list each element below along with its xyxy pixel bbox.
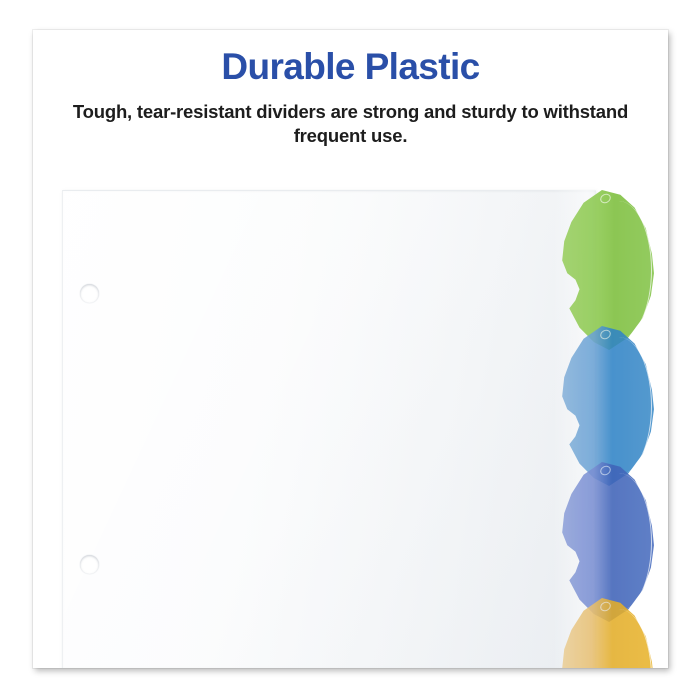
- tab-tip-mark-light-blue: [598, 328, 612, 341]
- subtitle: Tough, tear-resistant dividers are stron…: [66, 100, 636, 149]
- divider-sheet: [62, 190, 596, 668]
- tab-tip-mark-green: [598, 192, 612, 205]
- divider-tab-stack: [553, 190, 668, 668]
- tab-gloss-arc-light-blue: [606, 337, 652, 475]
- sheet-sheen-overlay: [63, 191, 596, 668]
- punch-hole-top: [80, 284, 99, 303]
- subtitle-line-1: Tough, tear-resistant dividers are stron…: [73, 101, 517, 122]
- tab-tip-mark-gold: [598, 600, 612, 613]
- tab-green: [553, 190, 655, 350]
- tab-tip-mark-dark-blue: [598, 464, 612, 477]
- tab-dark-blue: [553, 462, 655, 622]
- tab-gloss-arc-gold: [606, 609, 652, 668]
- tab-light-blue: [553, 326, 655, 486]
- page-title: Durable Plastic: [33, 48, 668, 87]
- product-photo-frame: Durable Plastic Tough, tear-resistant di…: [33, 30, 668, 668]
- tab-gold: [553, 598, 655, 668]
- tab-gloss-arc-dark-blue: [606, 473, 652, 611]
- marketing-text-block: Durable Plastic Tough, tear-resistant di…: [33, 48, 668, 149]
- punch-hole-bottom: [80, 555, 99, 574]
- tab-gloss-arc-green: [606, 201, 652, 339]
